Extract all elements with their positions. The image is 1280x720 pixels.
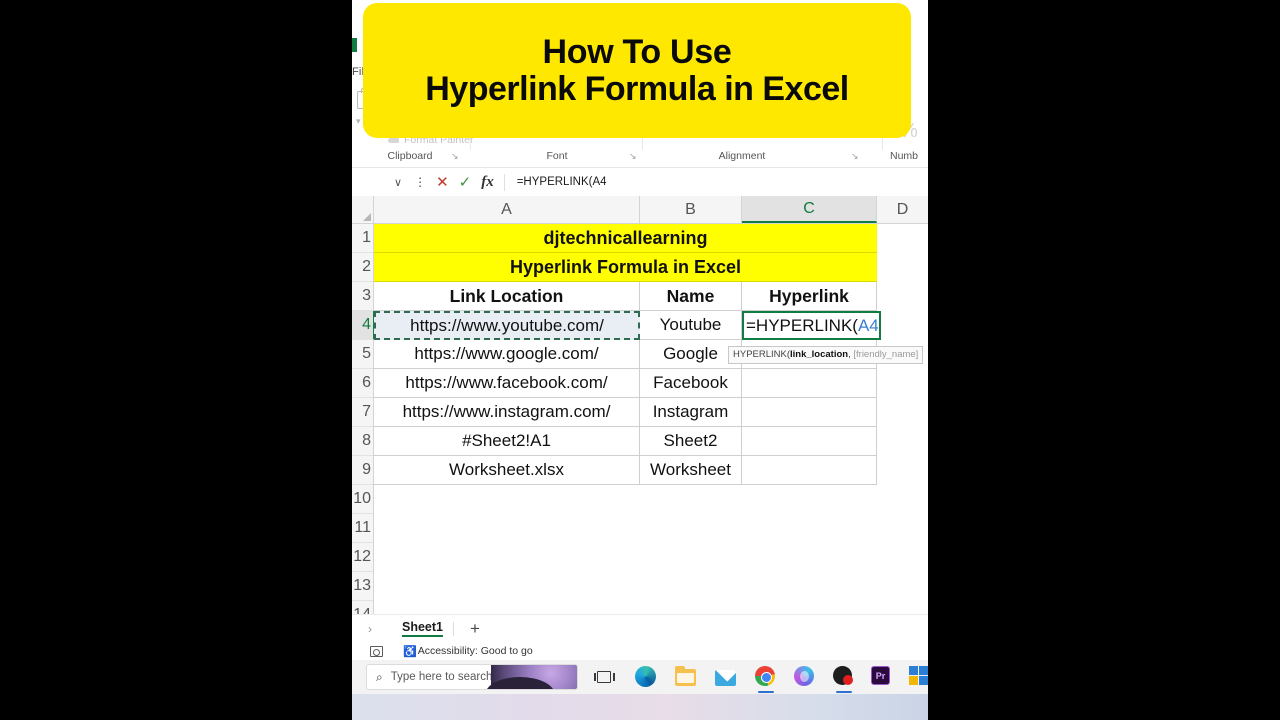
cell-c11[interactable] xyxy=(742,514,877,543)
cell-b11[interactable] xyxy=(640,514,742,543)
table-row: djtechnicallearning xyxy=(374,224,928,253)
ribbon-group-font: Font xyxy=(502,150,612,162)
screentip-arg-link-location: link_location xyxy=(790,349,848,360)
google-chrome-icon[interactable] xyxy=(755,666,775,688)
column-headers: A B C D xyxy=(374,196,928,224)
column-header-c[interactable]: C xyxy=(742,196,877,223)
cell-d2[interactable] xyxy=(877,253,928,282)
cell-b13[interactable] xyxy=(640,572,742,601)
ribbon-group-number: Numb xyxy=(890,150,928,162)
row-headers: 1 2 3 4 5 6 7 8 9 10 11 12 13 14 xyxy=(352,224,374,614)
cell-c13[interactable] xyxy=(742,572,877,601)
alignment-dialog-launcher[interactable]: ↘ xyxy=(851,151,859,162)
cell-a13[interactable] xyxy=(374,572,640,601)
row-header-4[interactable]: 4 xyxy=(352,311,375,340)
cell-a8[interactable]: #Sheet2!A1 xyxy=(374,427,640,456)
obs-studio-icon[interactable] xyxy=(833,666,852,688)
file-explorer-icon[interactable] xyxy=(675,666,696,688)
sheet-tab-divider xyxy=(453,622,454,636)
copilot-icon[interactable] xyxy=(794,666,814,688)
cell-d4[interactable] xyxy=(881,311,928,340)
cell-a5[interactable]: https://www.google.com/ xyxy=(374,340,640,369)
formula-prefix-text: =HYPERLINK( xyxy=(746,316,858,336)
clipboard-dialog-launcher[interactable]: ↘ xyxy=(451,151,459,162)
cell-b5[interactable]: Google xyxy=(640,340,742,369)
formula-bar-more-icon[interactable]: ⋮ xyxy=(414,178,426,186)
cancel-icon[interactable]: ✕ xyxy=(436,173,449,191)
cell-a9[interactable]: Worksheet.xlsx xyxy=(374,456,640,485)
row-header-5[interactable]: 5 xyxy=(352,340,373,369)
table-row xyxy=(374,572,928,601)
microsoft-edge-icon[interactable] xyxy=(635,666,656,688)
row-header-11[interactable]: 11 xyxy=(352,514,373,543)
column-header-d[interactable]: D xyxy=(877,196,928,223)
row-header-13[interactable]: 13 xyxy=(352,572,373,601)
ribbon-group-clipboard: Clipboard xyxy=(362,150,458,162)
name-box-dropdown-icon[interactable]: ∨ xyxy=(394,176,402,189)
cell-b3[interactable]: Name xyxy=(640,282,742,311)
row-header-8[interactable]: 8 xyxy=(352,427,373,456)
cell-d3[interactable] xyxy=(877,282,928,311)
cell-c7[interactable] xyxy=(742,398,877,427)
screentip-function-name: HYPERLINK( xyxy=(733,349,790,360)
search-placeholder: Type here to search xyxy=(391,671,493,683)
adobe-premiere-icon[interactable]: Pr xyxy=(871,666,890,688)
row-header-10[interactable]: 10 xyxy=(352,485,373,514)
table-row xyxy=(374,485,928,514)
accessibility-icon: ♿ xyxy=(403,645,417,658)
screen: File ▾ Format Painter Clipboard ↘ Font ↘… xyxy=(0,0,1280,720)
cell-d8[interactable] xyxy=(877,427,928,456)
cell-a10[interactable] xyxy=(374,485,640,514)
cell-d9[interactable] xyxy=(877,456,928,485)
cell-a4[interactable]: https://www.youtube.com/ xyxy=(374,311,640,340)
title-line-2: Hyperlink Formula in Excel xyxy=(425,71,848,108)
cell-d13[interactable] xyxy=(877,572,928,601)
macro-record-icon[interactable] xyxy=(370,646,383,657)
table-row: Worksheet.xlsx Worksheet xyxy=(374,456,928,485)
cell-c6[interactable] xyxy=(742,369,877,398)
cell-a2[interactable]: Hyperlink Formula in Excel xyxy=(374,253,877,282)
cell-b8[interactable]: Sheet2 xyxy=(640,427,742,456)
cell-b6[interactable]: Facebook xyxy=(640,369,742,398)
row-header-6[interactable]: 6 xyxy=(352,369,373,398)
cell-c10[interactable] xyxy=(742,485,877,514)
row-header-1[interactable]: 1 xyxy=(352,224,373,253)
paste-dropdown-caret[interactable]: ▾ xyxy=(356,116,361,127)
accessibility-status[interactable]: Accessibility: Good to go xyxy=(418,645,533,657)
mail-icon[interactable] xyxy=(715,666,736,688)
enter-icon[interactable]: ✓ xyxy=(459,173,472,191)
cell-a7[interactable]: https://www.instagram.com/ xyxy=(374,398,640,427)
column-header-b[interactable]: B xyxy=(640,196,742,223)
desktop-wallpaper-strip xyxy=(352,694,928,720)
cell-b10[interactable] xyxy=(640,485,742,514)
excel-window: File ▾ Format Painter Clipboard ↘ Font ↘… xyxy=(352,0,928,720)
row-header-9[interactable]: 9 xyxy=(352,456,373,485)
select-all-button[interactable] xyxy=(352,196,374,224)
windows-taskbar: ⌕ Type here to search Pr xyxy=(352,660,928,694)
cell-area: djtechnicallearning Hyperlink Formula in… xyxy=(374,224,928,614)
search-icon: ⌕ xyxy=(376,670,383,685)
cell-c8[interactable] xyxy=(742,427,877,456)
row-header-3[interactable]: 3 xyxy=(352,282,373,311)
cell-b4[interactable]: Youtube xyxy=(640,311,742,340)
letterbox-right xyxy=(928,0,1280,720)
task-view-icon[interactable] xyxy=(597,666,616,688)
formula-bar-divider xyxy=(504,174,505,191)
table-row xyxy=(374,514,928,543)
cell-a6[interactable]: https://www.facebook.com/ xyxy=(374,369,640,398)
row-header-2[interactable]: 2 xyxy=(352,253,373,282)
search-wallpaper-thumb xyxy=(491,665,577,690)
table-row: #Sheet2!A1 Sheet2 xyxy=(374,427,928,456)
sheet-nav-next-icon[interactable]: › xyxy=(368,622,372,636)
cell-b12[interactable] xyxy=(640,543,742,572)
search-input[interactable]: ⌕ Type here to search xyxy=(366,664,578,690)
cell-d6[interactable] xyxy=(877,369,928,398)
cell-c3[interactable]: Hyperlink xyxy=(742,282,877,311)
row-header-7[interactable]: 7 xyxy=(352,398,373,427)
cell-a11[interactable] xyxy=(374,514,640,543)
table-row: https://www.youtube.com/ Youtube =HYPERL… xyxy=(374,311,928,340)
table-row: Hyperlink Formula in Excel xyxy=(374,253,928,282)
letterbox-left xyxy=(0,0,352,720)
cell-d10[interactable] xyxy=(877,485,928,514)
formula-bar: ∨ ⋮ ✕ ✓ fx =HYPERLINK(A4 xyxy=(352,168,928,196)
function-screentip: HYPERLINK(link_location, [friendly_name] xyxy=(728,346,923,364)
cell-c9[interactable] xyxy=(742,456,877,485)
table-row: Link Location Name Hyperlink xyxy=(374,282,928,311)
cell-c4[interactable]: =HYPERLINK(A4 xyxy=(742,311,881,340)
table-row xyxy=(374,543,928,572)
cell-d7[interactable] xyxy=(877,398,928,427)
cell-d1[interactable] xyxy=(877,224,928,253)
title-banner: How To Use Hyperlink Formula in Excel xyxy=(363,3,911,138)
formula-input[interactable]: =HYPERLINK(A4 xyxy=(517,176,607,188)
screentip-arg-friendly-name: [friendly_name] xyxy=(853,349,918,360)
insert-function-icon[interactable]: fx xyxy=(481,174,494,191)
cell-b9[interactable]: Worksheet xyxy=(640,456,742,485)
ribbon-group-alignment: Alignment xyxy=(682,150,802,162)
sheet-tab-bar: › Sheet1 + xyxy=(352,614,928,642)
cell-c12[interactable] xyxy=(742,543,877,572)
table-row: https://www.instagram.com/ Instagram xyxy=(374,398,928,427)
sheet-tab-sheet1[interactable]: Sheet1 xyxy=(402,620,443,637)
table-row: https://www.facebook.com/ Facebook xyxy=(374,369,928,398)
copy-marching-ants xyxy=(374,311,640,340)
excel-accent-bar xyxy=(352,38,357,52)
status-bar: ♿ Accessibility: Good to go xyxy=(352,642,928,660)
cell-a1[interactable]: djtechnicallearning xyxy=(374,224,877,253)
add-sheet-button[interactable]: + xyxy=(470,622,480,636)
cell-a3[interactable]: Link Location xyxy=(374,282,640,311)
spreadsheet-grid: A B C D 1 2 3 4 5 6 7 8 9 10 11 12 13 14 xyxy=(352,196,928,614)
cell-d11[interactable] xyxy=(877,514,928,543)
cell-b7[interactable]: Instagram xyxy=(640,398,742,427)
formula-reference-token: A4 xyxy=(858,316,879,336)
column-header-a[interactable]: A xyxy=(374,196,640,223)
title-line-1: How To Use xyxy=(542,34,731,71)
font-dialog-launcher[interactable]: ↘ xyxy=(629,151,637,162)
cell-a12[interactable] xyxy=(374,543,640,572)
row-header-12[interactable]: 12 xyxy=(352,543,373,572)
cell-d12[interactable] xyxy=(877,543,928,572)
microsoft-store-icon[interactable] xyxy=(909,666,928,688)
